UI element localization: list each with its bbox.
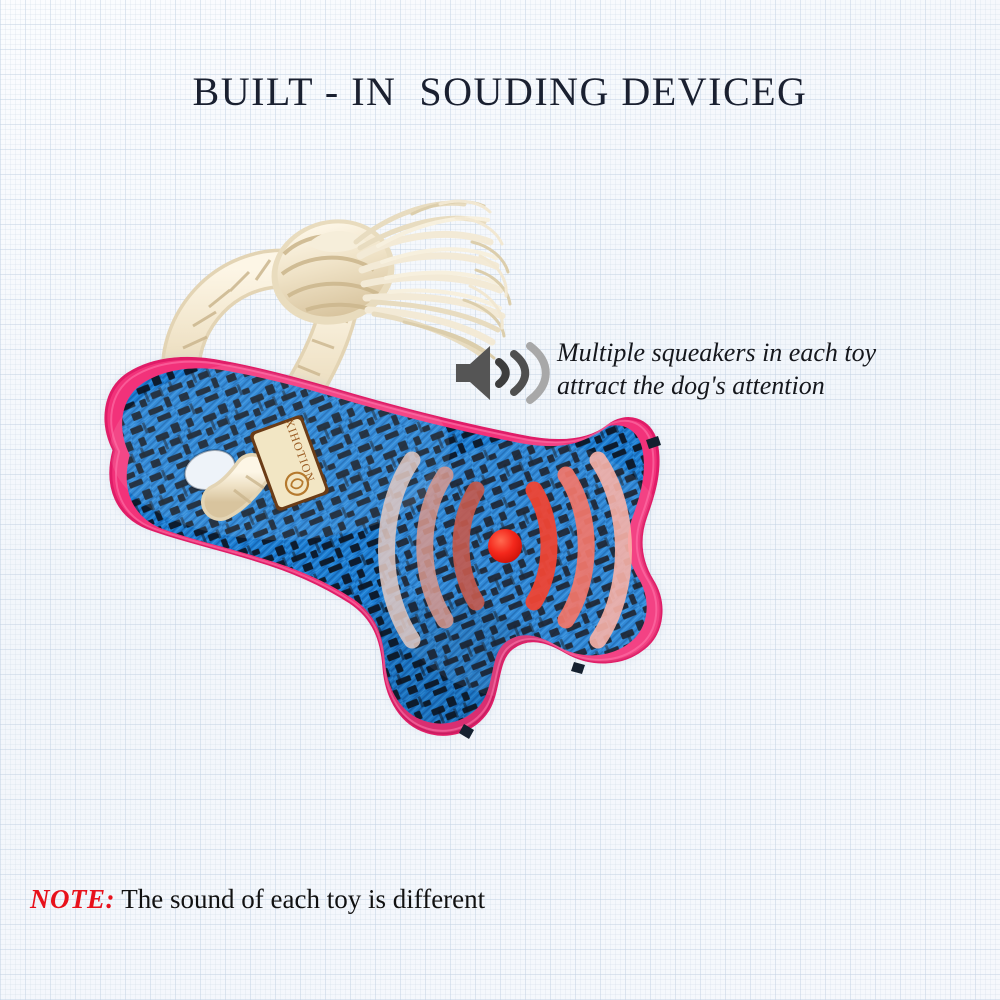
product-photo: XIHOTION: [60, 150, 740, 830]
squeaker-caption: Multiple squeakers in each toy attract t…: [557, 336, 957, 402]
note-label: NOTE:: [30, 884, 115, 914]
squeaker-dot: [488, 529, 522, 563]
product-infographic-page: BUILT - IN SOUDING DEVICEG: [0, 0, 1000, 1000]
speaker-sound-icon: [452, 342, 556, 404]
caption-line-1: Multiple squeakers in each toy: [557, 336, 957, 369]
caption-line-2: attract the dog's attention: [557, 369, 957, 402]
footer-note: NOTE: The sound of each toy is different: [30, 884, 485, 915]
squeaker-annotation: Multiple squeakers in each toy attract t…: [452, 336, 952, 426]
note-text: The sound of each toy is different: [115, 884, 485, 914]
page-title: BUILT - IN SOUDING DEVICEG: [0, 68, 1000, 115]
rope-frayed-end: [356, 201, 510, 358]
